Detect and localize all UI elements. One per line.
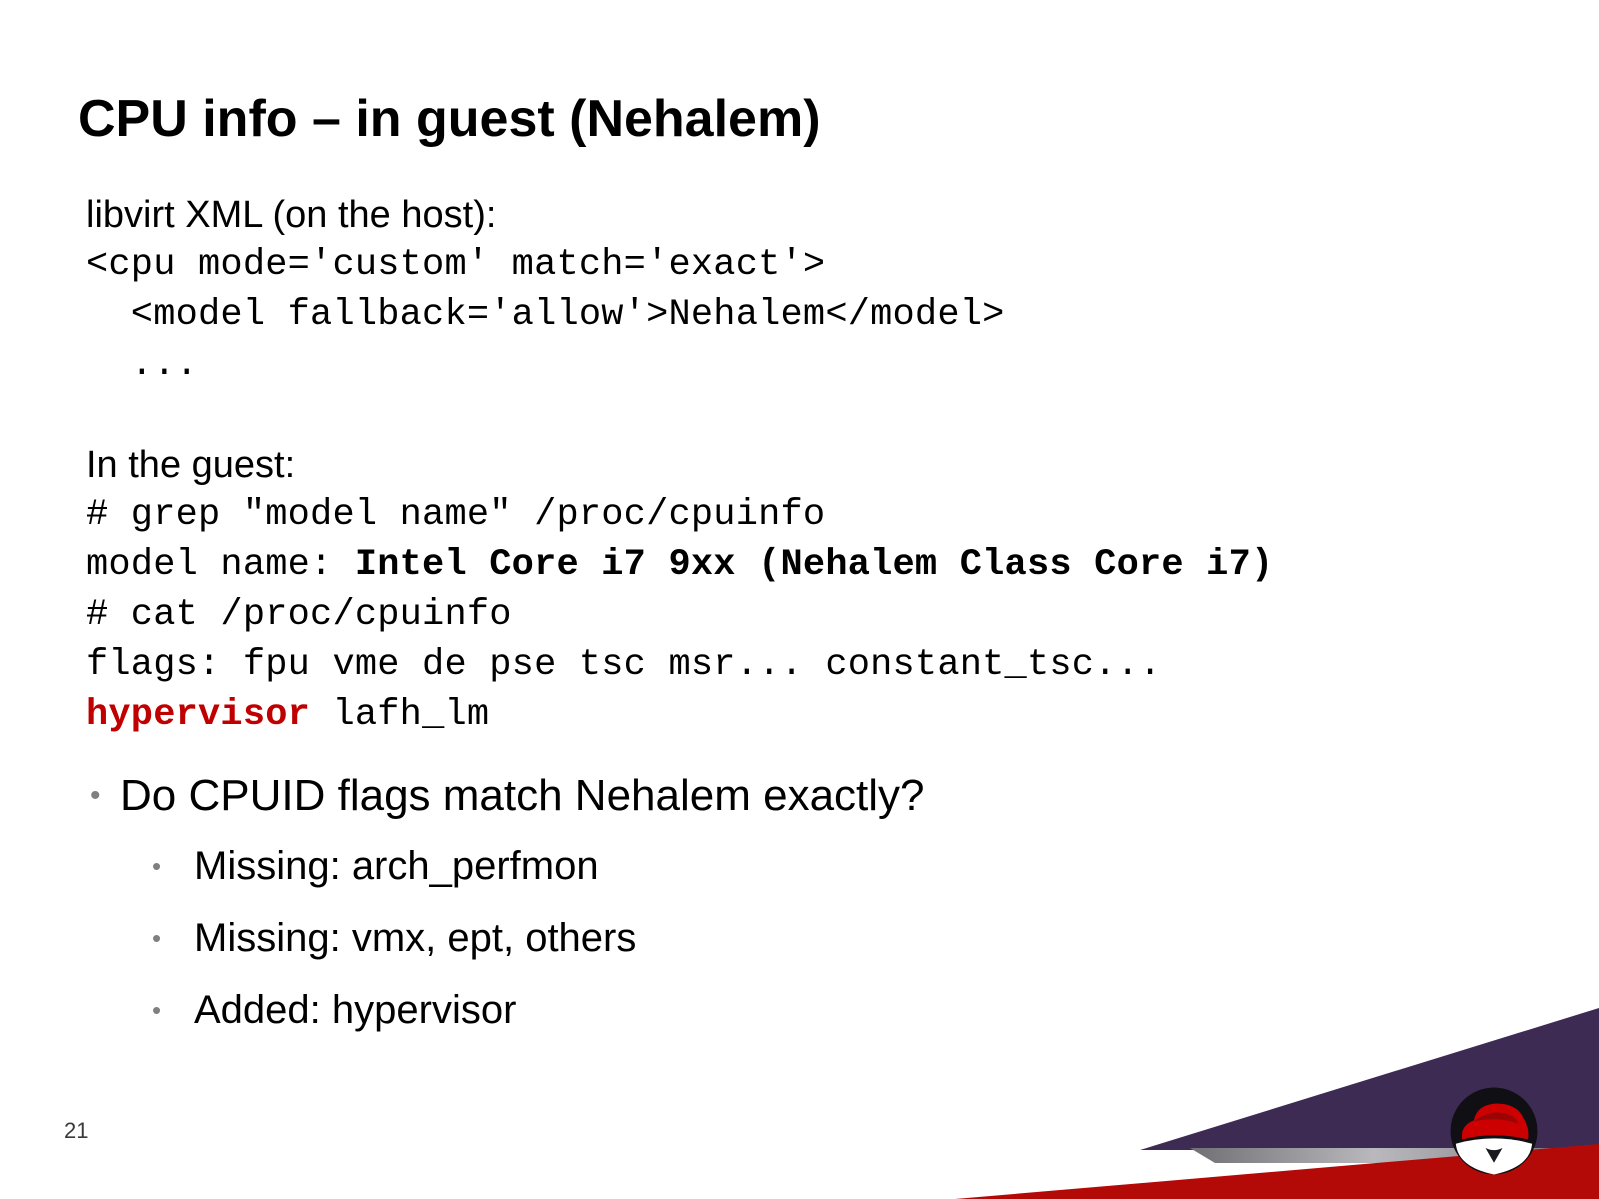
list-item: • Missing: arch_perfmon xyxy=(152,840,1486,892)
model-name-output-line: model name: Intel Core i7 9xx (Nehalem C… xyxy=(86,540,1546,590)
command-grep-line: # grep "model name" /proc/cpuinfo xyxy=(86,490,1546,540)
model-name-value: Intel Core i7 9xx (Nehalem Class Core i7… xyxy=(355,544,1274,586)
bullet-list: • Do CPUID flags match Nehalem exactly? … xyxy=(86,768,1486,1056)
command-cat-line: # cat /proc/cpuinfo xyxy=(86,590,1546,640)
cpu-flags-line: flags: fpu vme de pse tsc msr... constan… xyxy=(86,640,1546,690)
page-number: 21 xyxy=(64,1118,88,1144)
redhat-shadowman-logo xyxy=(1441,1078,1547,1184)
xml-line-ellipsis: ... xyxy=(86,340,1546,390)
xml-line-cpu: <cpu mode='custom' match='exact'> xyxy=(86,240,1546,290)
list-item: • Missing: vmx, ept, others xyxy=(152,912,1486,964)
hypervisor-flag-highlight: hypervisor xyxy=(86,694,310,736)
page-title: CPU info – in guest (Nehalem) xyxy=(78,92,1478,147)
list-item-label: Missing: arch_perfmon xyxy=(194,840,599,892)
guest-section-heading: In the guest: xyxy=(86,440,1546,490)
model-name-label: model name: xyxy=(86,544,355,586)
list-item-label: Missing: vmx, ept, others xyxy=(194,912,636,964)
bullet-dot-icon: • xyxy=(152,912,194,964)
sub-bullet-list: • Missing: arch_perfmon • Missing: vmx, … xyxy=(152,840,1486,1036)
list-item-label: Added: hypervisor xyxy=(194,984,516,1036)
section-spacer xyxy=(86,390,1546,440)
cpu-flags-line-continued: hypervisor lafh_lm xyxy=(86,690,1546,740)
list-item-label: Do CPUID flags match Nehalem exactly? xyxy=(120,768,925,824)
xml-line-model: <model fallback='allow'>Nehalem</model> xyxy=(86,290,1546,340)
cpu-flags-tail: lafh_lm xyxy=(310,694,489,736)
slide: CPU info – in guest (Nehalem) libvirt XM… xyxy=(0,0,1599,1199)
list-item: • Added: hypervisor xyxy=(152,984,1486,1036)
bullet-dot-icon: • xyxy=(152,840,194,892)
list-item: • Do CPUID flags match Nehalem exactly? xyxy=(86,768,1486,824)
bullet-dot-icon: • xyxy=(152,984,194,1036)
bullet-dot-icon: • xyxy=(86,768,120,824)
host-section-heading: libvirt XML (on the host): xyxy=(86,190,1546,240)
body-text-block: libvirt XML (on the host): <cpu mode='cu… xyxy=(86,190,1546,740)
